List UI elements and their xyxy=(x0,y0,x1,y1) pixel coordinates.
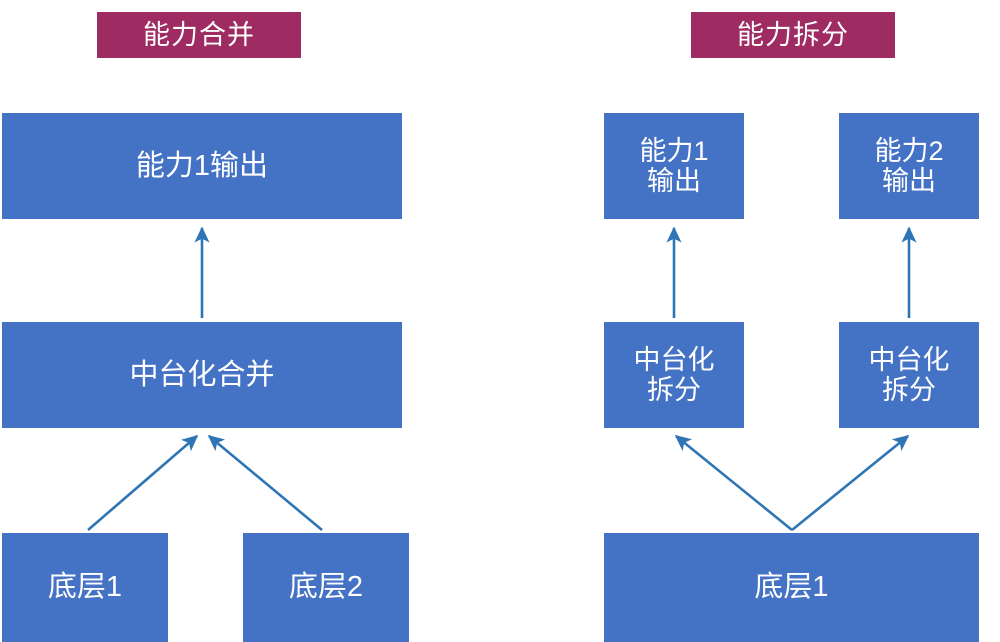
left-panel-capability-merge: 能力合并 能力1输出 中台化合并 底层1 底层2 xyxy=(0,0,500,642)
node-left-middle: 中台化合并 xyxy=(2,322,402,428)
diagram-canvas: 能力合并 能力1输出 中台化合并 底层1 底层2 能力拆分 能力1 输出 能力2… xyxy=(0,0,1000,642)
node-left-output: 能力1输出 xyxy=(2,113,402,219)
node-right-base-1: 底层1 xyxy=(604,533,979,642)
right-panel-title: 能力拆分 xyxy=(691,12,895,58)
node-right-output-1: 能力1 输出 xyxy=(604,113,744,219)
node-left-base-2: 底层2 xyxy=(243,533,409,642)
right-panel-capability-split: 能力拆分 能力1 输出 能力2 输出 中台化 拆分 中台化 拆分 底层1 xyxy=(500,0,1000,642)
left-panel-title: 能力合并 xyxy=(97,12,301,58)
node-left-base-1: 底层1 xyxy=(2,533,168,642)
node-right-output-2: 能力2 输出 xyxy=(839,113,979,219)
node-right-middle-2: 中台化 拆分 xyxy=(839,322,979,428)
node-right-middle-1: 中台化 拆分 xyxy=(604,322,744,428)
